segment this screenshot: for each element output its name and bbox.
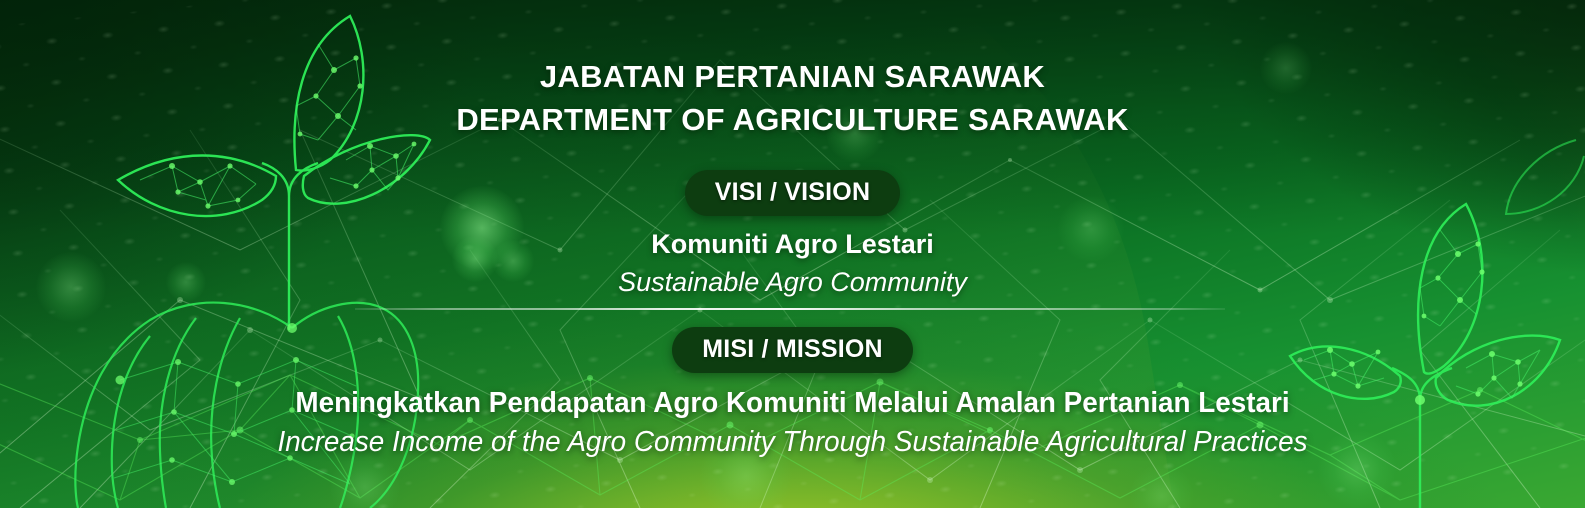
organization-title: JABATAN PERTANIAN SARAWAK DEPARTMENT OF …	[0, 55, 1585, 141]
organization-name-en: DEPARTMENT OF AGRICULTURE SARAWAK	[0, 98, 1585, 141]
mission-statement-ms: Meningkatkan Pendapatan Agro Komuniti Me…	[32, 384, 1554, 422]
vision-statement-ms: Komuniti Agro Lestari	[0, 226, 1585, 262]
vision-statement-en: Sustainable Agro Community	[0, 264, 1585, 300]
mission-section: MISI / MISSION Meningkatkan Pendapatan A…	[0, 327, 1585, 461]
vision-badge: VISI / VISION	[685, 170, 900, 216]
vision-section: VISI / VISION Komuniti Agro Lestari Sust…	[0, 170, 1585, 300]
banner-content: JABATAN PERTANIAN SARAWAK DEPARTMENT OF …	[0, 0, 1585, 508]
mission-statement-en: Increase Income of the Agro Community Th…	[32, 423, 1554, 461]
organization-name-ms: JABATAN PERTANIAN SARAWAK	[540, 59, 1045, 94]
section-divider	[355, 308, 1225, 310]
mission-badge: MISI / MISSION	[672, 327, 913, 373]
vision-mission-banner: JABATAN PERTANIAN SARAWAK DEPARTMENT OF …	[0, 0, 1585, 508]
